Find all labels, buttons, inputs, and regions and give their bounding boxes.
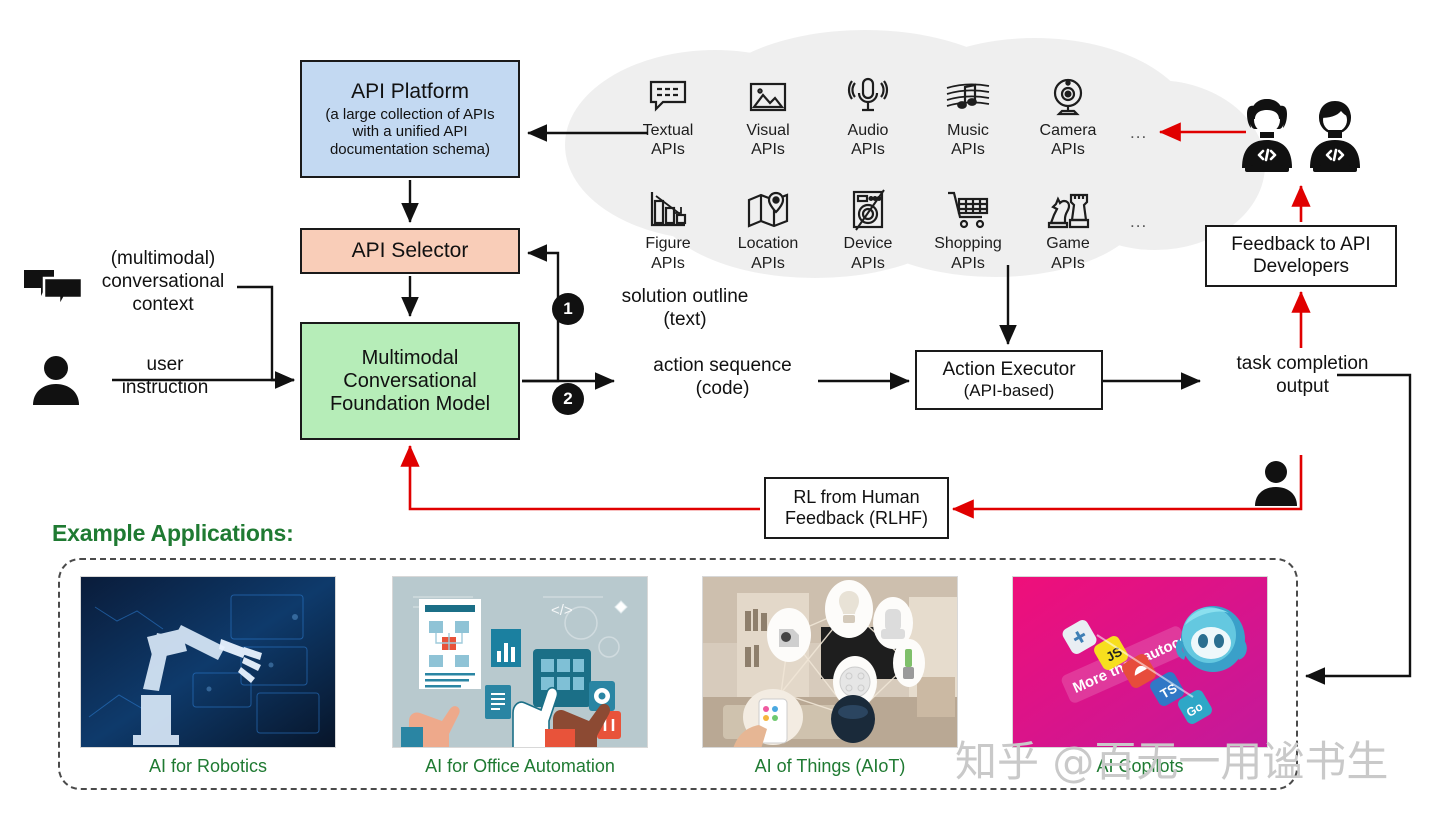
api-unit: APIs	[951, 141, 985, 158]
api-unit: APIs	[651, 255, 685, 272]
act-line1: action sequence	[653, 355, 791, 376]
example-app-office[interactable]: </> AI for Office Automation	[392, 576, 648, 777]
badge-step-2: 2	[552, 383, 584, 415]
api-platform-subtitle-line2: with a unified API	[352, 123, 467, 140]
arrow-output-to-examples	[1306, 375, 1410, 676]
api-platform-title: API Platform	[351, 80, 469, 104]
api-name: Shopping	[934, 235, 1002, 252]
usr-line2: instruction	[122, 377, 209, 398]
api-platform-box[interactable]: API Platform (a large collection of APIs…	[300, 60, 520, 178]
foundation-model-line3: Foundation Model	[330, 393, 490, 416]
api-name: Textual	[643, 122, 694, 139]
api-category-audio[interactable]: Audio APIs	[818, 72, 918, 159]
foundation-model-line1: Multimodal	[362, 347, 459, 370]
api-category-game[interactable]: Game APIs	[1018, 185, 1118, 272]
api-category-music[interactable]: Music APIs	[918, 72, 1018, 159]
api-name: Location	[738, 235, 799, 252]
camera-api-icon	[1047, 72, 1089, 118]
badge-step-1: 1	[552, 293, 584, 325]
api-name: Device	[844, 235, 893, 252]
example-app-robotics[interactable]: AI for Robotics	[80, 576, 336, 777]
user-instruction-label: user instruction	[95, 354, 235, 400]
user-person-icon	[30, 355, 82, 405]
api-unit: APIs	[751, 255, 785, 272]
api-selector-title: API Selector	[352, 239, 469, 263]
svg-text:</>: </>	[551, 602, 573, 619]
api-category-location[interactable]: Location APIs	[718, 185, 818, 272]
visual-api-icon	[747, 72, 789, 118]
ctx-line3: context	[132, 294, 193, 315]
location-api-icon	[746, 185, 790, 231]
api-selector-box[interactable]: API Selector	[300, 228, 520, 274]
sol-line2: (text)	[663, 309, 706, 330]
api-unit: APIs	[751, 141, 785, 158]
api-category-device-icon-cell[interactable]: Device APIs	[818, 185, 918, 272]
example-app-caption: AI of Things (AIoT)	[702, 756, 958, 777]
api-name: Music	[947, 122, 989, 139]
chat-bubbles-icon	[22, 268, 84, 308]
office-automation-illustration: </>	[392, 576, 648, 748]
task-completion-output-label: task completion output	[1210, 353, 1395, 399]
action-executor-title: Action Executor	[942, 359, 1075, 381]
music-api-icon	[945, 72, 991, 118]
conversational-context-label: (multimodal) conversational context	[78, 248, 248, 316]
zhihu-watermark: 知乎 @百无一用谧书生	[955, 728, 1388, 789]
smart-home-photo	[702, 576, 958, 748]
api-category-row-2: Figure APIs Location APIs	[618, 185, 1178, 272]
action-sequence-label: action sequence (code)	[630, 355, 815, 401]
textual-api-icon	[647, 72, 689, 118]
shopping-api-icon	[946, 185, 990, 231]
api-name: Audio	[848, 122, 889, 139]
cloud-ellipsis-bottom: ...	[1130, 212, 1147, 232]
robot-arm-photo	[80, 576, 336, 748]
api-category-visual[interactable]: Visual APIs	[718, 72, 818, 159]
arrow-human-to-rlhf	[953, 455, 1301, 509]
foundation-model-line2: Conversational	[343, 370, 476, 393]
api-category-textual[interactable]: Textual APIs	[618, 72, 718, 159]
male-developer-icon	[1304, 96, 1366, 174]
api-category-figure[interactable]: Figure APIs	[618, 185, 718, 272]
ctx-line1: (multimodal)	[111, 248, 216, 269]
api-unit: APIs	[1051, 255, 1085, 272]
human-evaluator-icon	[1252, 460, 1300, 506]
api-unit: APIs	[651, 141, 685, 158]
api-unit: APIs	[851, 141, 885, 158]
arrow-solution-outline-loop	[522, 253, 558, 381]
game-api-icon	[1046, 185, 1090, 231]
api-category-shopping[interactable]: Shopping APIs	[918, 185, 1018, 272]
feedback-line2: Developers	[1253, 256, 1349, 278]
female-developer-icon	[1236, 96, 1298, 174]
feedback-line1: Feedback to API	[1231, 234, 1370, 256]
example-applications-heading: Example Applications:	[52, 520, 294, 548]
task-line2: output	[1276, 376, 1329, 397]
api-unit: APIs	[1051, 141, 1085, 158]
api-name: Figure	[645, 235, 690, 252]
rlhf-line2: Feedback (RLHF)	[785, 508, 928, 529]
api-name: Visual	[746, 122, 789, 139]
cloud-ellipsis-top: ...	[1130, 123, 1147, 143]
rlhf-box[interactable]: RL from Human Feedback (RLHF)	[764, 477, 949, 539]
arrow-rlhf-to-model	[410, 446, 760, 509]
figure-api-icon	[647, 185, 689, 231]
feedback-to-developers-box[interactable]: Feedback to API Developers	[1205, 225, 1397, 287]
example-app-caption: AI for Office Automation	[392, 756, 648, 777]
api-name: Game	[1046, 235, 1090, 252]
api-category-camera[interactable]: Camera APIs	[1018, 72, 1118, 159]
sol-line1: solution outline	[622, 286, 749, 307]
task-line1: task completion	[1236, 353, 1368, 374]
diagram-canvas: Textual APIs Visual APIs	[0, 0, 1440, 813]
example-app-caption: AI for Robotics	[80, 756, 336, 777]
action-executor-box[interactable]: Action Executor (API-based)	[915, 350, 1103, 410]
api-name: Camera	[1040, 122, 1097, 139]
api-unit: APIs	[951, 255, 985, 272]
audio-api-icon	[847, 72, 889, 118]
device-api-icon	[847, 185, 889, 231]
api-category-grid: Textual APIs Visual APIs	[618, 72, 1178, 273]
example-app-aiot[interactable]: AI of Things (AIoT)	[702, 576, 958, 777]
rlhf-line1: RL from Human	[793, 487, 919, 508]
ctx-line2: conversational	[102, 271, 225, 292]
api-unit: APIs	[851, 255, 885, 272]
copilot-promo-graphic: More than autocomplete JS TS Go	[1012, 576, 1268, 748]
api-platform-subtitle-line3: documentation schema)	[330, 141, 490, 158]
api-platform-subtitle-line1: (a large collection of APIs	[325, 106, 494, 123]
foundation-model-box[interactable]: Multimodal Conversational Foundation Mod…	[300, 322, 520, 440]
solution-outline-label: solution outline (text)	[595, 286, 775, 332]
action-executor-subtitle: (API-based)	[964, 381, 1055, 401]
act-line2: (code)	[696, 378, 750, 399]
api-category-row-1: Textual APIs Visual APIs	[618, 72, 1178, 159]
api-platform-subtitle: (a large collection of APIs with a unifi…	[325, 106, 494, 158]
usr-line1: user	[147, 354, 184, 375]
